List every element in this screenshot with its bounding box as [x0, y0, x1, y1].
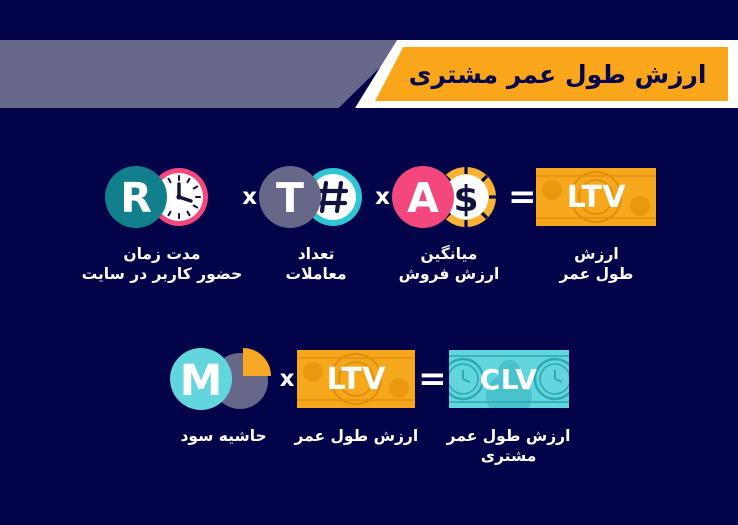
- aov-icon-pair: $ A: [390, 158, 508, 236]
- header-banner: ارزش طول عمر مشتری: [0, 40, 738, 108]
- svg-text:M: M: [179, 356, 222, 406]
- pair-r-clock: R: [103, 161, 221, 233]
- operator-equals: =: [418, 340, 447, 418]
- banknote-icon: CLV: [449, 350, 569, 408]
- page-title: ارزش طول عمر مشتری: [409, 62, 707, 87]
- ltv-banknote-icon: LTV: [297, 340, 415, 418]
- svg-text:$: $: [453, 179, 478, 220]
- term-caption: میانگین ارزش فروش: [399, 245, 500, 285]
- ltv-formula-row: LTV ارزش طول عمر =: [0, 158, 738, 285]
- term-ltv: LTV ارزش طول عمر: [294, 340, 418, 447]
- header-gray-bar: [0, 40, 408, 108]
- banknote-icon: LTV: [536, 168, 656, 226]
- term-retention-time: R مدت زمان حضور کاربر در سایت: [82, 158, 243, 285]
- operator-multiply: x: [375, 158, 390, 236]
- operator-multiply: x: [242, 158, 257, 236]
- term-average-order-value: $ A میانگین ارزش فروش: [390, 158, 508, 285]
- pair-t-hash: T: [257, 161, 375, 233]
- term-ltv: LTV ارزش طول عمر: [536, 158, 656, 285]
- term-profit-margin: M حاشیه سود: [168, 340, 280, 447]
- header-orange-plate: ارزش طول عمر مشتری: [375, 47, 728, 101]
- term-caption: حاشیه سود: [180, 427, 266, 447]
- ltv-label: LTV: [567, 180, 626, 215]
- operator-equals: =: [508, 158, 537, 236]
- term-caption: ارزش طول عمر: [560, 245, 634, 285]
- term-caption: ارزش طول عمر: [294, 427, 418, 447]
- term-clv: CLV ارزش طول عمر مشتری: [447, 340, 571, 467]
- ltv-label: LTV: [327, 362, 386, 397]
- term-caption: مدت زمان حضور کاربر در سایت: [82, 245, 243, 285]
- clv-label: CLV: [480, 363, 538, 396]
- pair-a-dollar: $ A: [390, 161, 508, 233]
- infographic-canvas: ارزش طول عمر مشتری LTV ارز: [0, 0, 738, 525]
- transactions-icon-pair: T: [257, 158, 375, 236]
- term-caption: تعداد معاملات: [286, 245, 347, 285]
- clv-formula-row: CLV ارزش طول عمر مشتری = L: [0, 340, 738, 467]
- clv-banknote-icon: CLV: [449, 340, 569, 418]
- operator-multiply: x: [280, 340, 295, 418]
- term-transactions: T تعداد معاملات: [257, 158, 375, 285]
- svg-text:T: T: [276, 174, 304, 222]
- banknote-icon: LTV: [297, 350, 415, 408]
- svg-text:R: R: [120, 174, 152, 222]
- margin-icon-pair: M: [168, 340, 280, 418]
- ltv-banknote-icon: LTV: [536, 158, 656, 236]
- letter-m-circle: M: [170, 348, 232, 410]
- letter-a-circle: A: [392, 166, 454, 228]
- pair-m-pie: M: [168, 343, 280, 415]
- letter-r-circle: R: [105, 166, 167, 228]
- svg-text:A: A: [407, 174, 439, 222]
- term-caption: ارزش طول عمر مشتری: [447, 427, 571, 467]
- retention-icon-pair: R: [103, 158, 221, 236]
- letter-t-circle: T: [259, 166, 321, 228]
